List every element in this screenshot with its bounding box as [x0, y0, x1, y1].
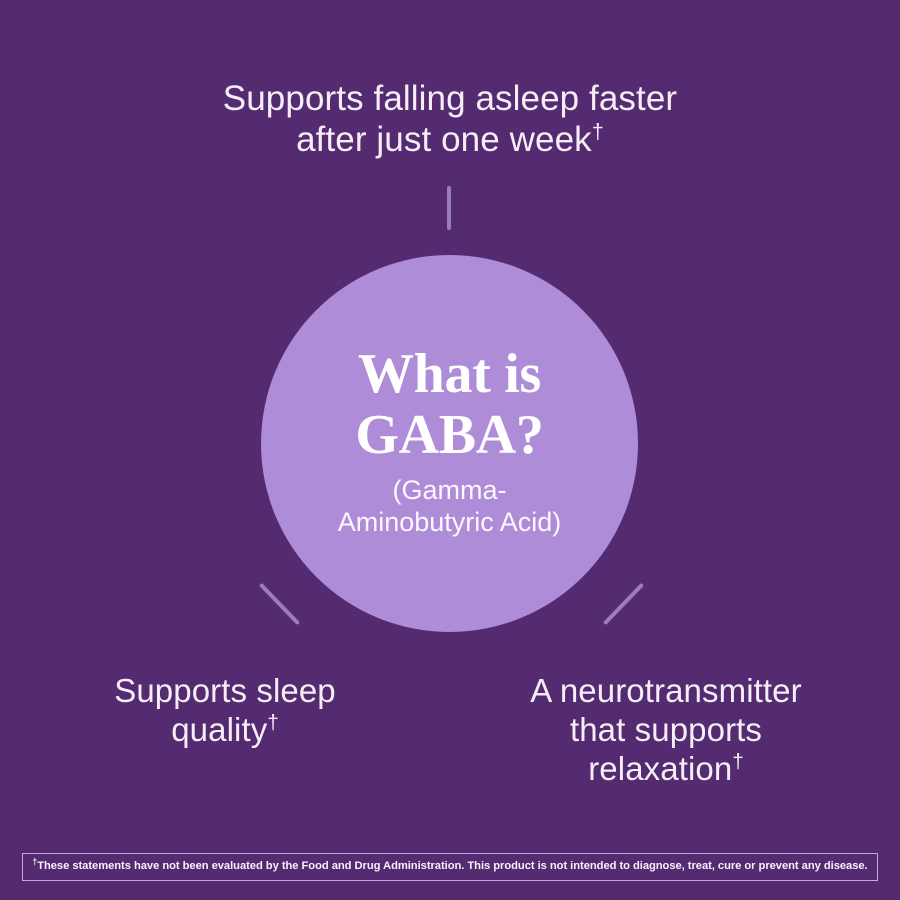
statement-bottom-right: A neurotransmitter that supports relaxat…	[460, 672, 872, 789]
gaba-circle: What is GABA? (Gamma- Aminobutyric Acid)	[261, 255, 638, 632]
gaba-infographic: Supports falling asleep faster after jus…	[0, 0, 900, 900]
statement-bottom-left: Supports sleep quality†	[30, 672, 420, 750]
dagger-symbol-top: †	[592, 119, 604, 144]
statement-bottom-left-text: Supports sleep quality	[114, 672, 336, 748]
dagger-symbol-bottom-left: †	[267, 711, 278, 734]
circle-subheading: (Gamma- Aminobutyric Acid)	[338, 475, 562, 539]
statement-bottom-right-text: A neurotransmitter that supports relaxat…	[530, 672, 801, 787]
connector-line-bottom-left	[259, 583, 300, 625]
statement-top: Supports falling asleep faster after jus…	[0, 78, 900, 161]
disclaimer-box: †These statements have not been evaluate…	[22, 853, 878, 881]
connector-line-top	[447, 186, 451, 230]
connector-line-bottom-right	[603, 583, 644, 625]
dagger-symbol-bottom-right: †	[732, 750, 743, 773]
disclaimer-text: These statements have not been evaluated…	[37, 860, 867, 872]
disclaimer-text-wrap: †These statements have not been evaluate…	[32, 861, 867, 872]
circle-heading: What is GABA?	[355, 344, 543, 465]
statement-top-text: Supports falling asleep faster after jus…	[223, 79, 677, 159]
